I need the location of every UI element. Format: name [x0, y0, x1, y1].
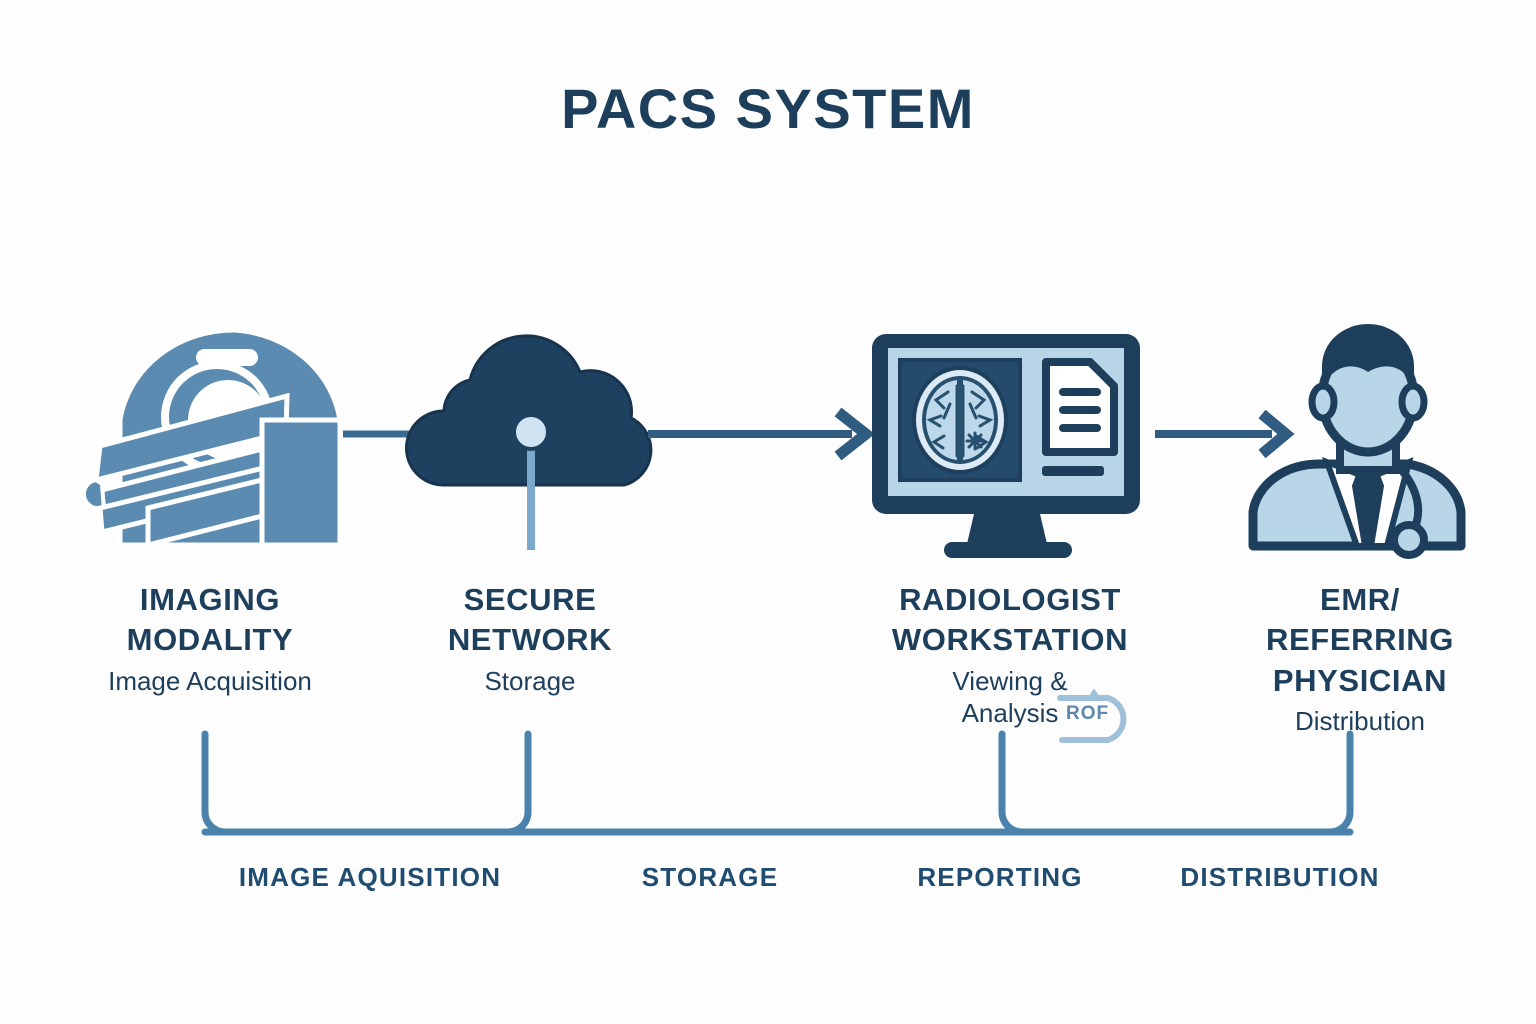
- node-title: IMAGING MODALITY: [20, 580, 400, 661]
- connector-workstation-to-emr: [1155, 414, 1286, 454]
- phase-label-storage: STORAGE: [560, 862, 860, 893]
- monitor-brain-scan-icon: [872, 334, 1140, 558]
- mri-scanner-icon: [84, 330, 340, 545]
- pacs-system-diagram: PACS SYSTEM: [0, 0, 1536, 1024]
- bracket-acquisition: [205, 734, 528, 832]
- page-title: PACS SYSTEM: [0, 78, 1536, 140]
- rof-badge: ROF: [1056, 684, 1136, 746]
- bracket-distribution: [1002, 734, 1350, 832]
- node-subtitle: Distribution: [1200, 705, 1520, 738]
- node-title: SECURE NETWORK: [370, 580, 690, 661]
- node-subtitle: Storage: [370, 665, 690, 698]
- phase-brackets: [205, 734, 1350, 832]
- node-title: EMR/ REFERRING PHYSICIAN: [1200, 580, 1520, 701]
- rof-badge-label: ROF: [1066, 703, 1109, 725]
- node-label-radiologist-workstation: RADIOLOGIST WORKSTATION Viewing & Analys…: [830, 580, 1190, 730]
- phase-label-distribution: DISTRIBUTION: [1090, 862, 1470, 893]
- connector-network-to-workstation: [648, 412, 866, 456]
- node-label-secure-network: SECURE NETWORK Storage: [370, 580, 690, 697]
- phase-label-image-acquisition: IMAGE AQUISITION: [150, 862, 590, 893]
- node-subtitle: Image Acquisition: [20, 665, 400, 698]
- node-subtitle: Viewing & Analysis: [830, 665, 1190, 730]
- node-label-emr-referring-physician: EMR/ REFERRING PHYSICIAN Distribution: [1200, 580, 1520, 737]
- cloud-icon: [406, 336, 650, 550]
- node-label-imaging-modality: IMAGING MODALITY Image Acquisition: [20, 580, 400, 697]
- node-title: RADIOLOGIST WORKSTATION: [830, 580, 1190, 661]
